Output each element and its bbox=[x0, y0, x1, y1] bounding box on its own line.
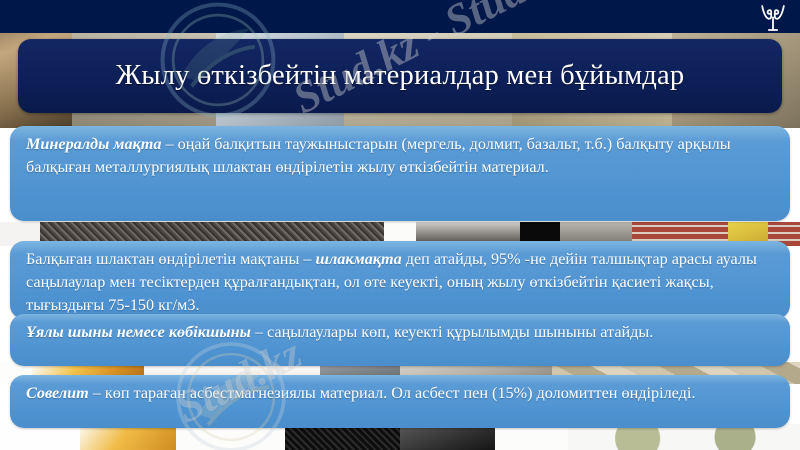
panel-text: Совелит – көп тараған асбестмагнезиялы м… bbox=[26, 382, 776, 405]
university-emblem-icon bbox=[758, 3, 788, 33]
panel-text: Ұялы шыны немесе көбікшыны – саңылаулары… bbox=[26, 321, 776, 344]
presentation-slide: Жылу өткізбейтін материалдар мен бұйымда… bbox=[0, 0, 800, 450]
panel-text: Минералды мақта – оңай балқитын таужыныс… bbox=[26, 133, 776, 179]
content-panel-slag-wool: Балқыған шлактан өндірілетін мақтаны – ш… bbox=[10, 241, 790, 319]
key-term: Минералды мақта bbox=[26, 135, 161, 153]
page-title: Жылу өткізбейтін материалдар мен бұйымда… bbox=[116, 60, 685, 92]
key-term: шлакмақта bbox=[316, 250, 402, 268]
panel-body: – көп тараған асбестмагнезиялы материал.… bbox=[89, 384, 696, 402]
key-term: Совелит bbox=[26, 384, 89, 402]
slide-title-plate: Жылу өткізбейтін материалдар мен бұйымда… bbox=[18, 39, 782, 113]
panel-body: – саңылаулары көп, кеуекті құрылымды шын… bbox=[251, 323, 653, 341]
panel-text: Балқыған шлактан өндірілетін мақтаны – ш… bbox=[26, 248, 776, 317]
content-panel-mineral-wool: Минералды мақта – оңай балқитын таужыныс… bbox=[10, 126, 790, 221]
key-term: Ұялы шыны немесе көбікшыны bbox=[26, 323, 251, 341]
panel-lead: Балқыған шлактан өндірілетін мақтаны – bbox=[26, 250, 316, 268]
content-panel-sovelit: Совелит – көп тараған асбестмагнезиялы м… bbox=[10, 375, 790, 428]
header-bar bbox=[0, 0, 800, 33]
content-panel-cellular-glass: Ұялы шыны немесе көбікшыны – саңылаулары… bbox=[10, 314, 790, 366]
